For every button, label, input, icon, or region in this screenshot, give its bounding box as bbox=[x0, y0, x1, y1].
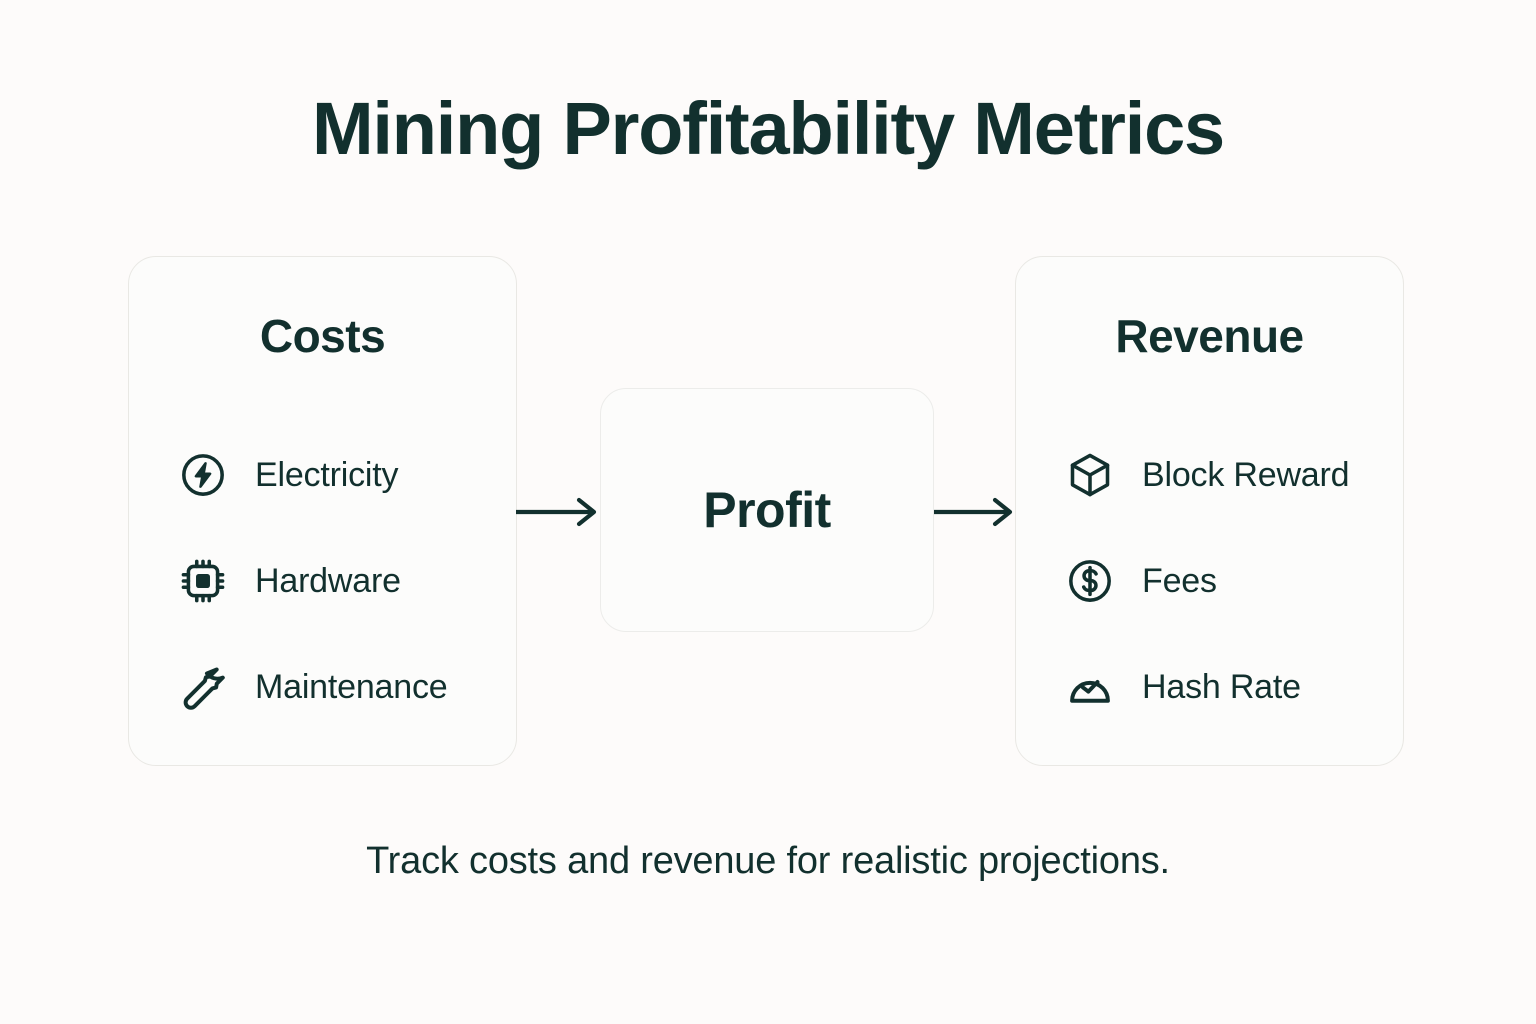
revenue-item-fees: Fees bbox=[1016, 528, 1403, 634]
cube-icon bbox=[1064, 449, 1116, 501]
revenue-item-label: Block Reward bbox=[1142, 456, 1349, 495]
revenue-item-label: Fees bbox=[1142, 562, 1217, 601]
lightning-bolt-circle-icon bbox=[177, 449, 229, 501]
costs-item-label: Hardware bbox=[255, 562, 401, 601]
costs-item-maintenance: Maintenance bbox=[129, 634, 516, 740]
cpu-chip-icon bbox=[177, 555, 229, 607]
profit-label: Profit bbox=[703, 481, 831, 539]
wrench-icon bbox=[177, 661, 229, 713]
costs-item-hardware: Hardware bbox=[129, 528, 516, 634]
revenue-card: Revenue Block Reward bbox=[1015, 256, 1404, 766]
costs-item-list: Electricity Hardware bbox=[129, 422, 516, 740]
costs-item-label: Maintenance bbox=[255, 668, 448, 707]
dollar-circle-icon bbox=[1064, 555, 1116, 607]
costs-card-title: Costs bbox=[129, 309, 516, 363]
caption-text: Track costs and revenue for realistic pr… bbox=[0, 840, 1536, 883]
profit-node: Profit bbox=[600, 388, 934, 632]
diagram-canvas: Mining Profitability Metrics Costs Elect… bbox=[0, 0, 1536, 1024]
revenue-item-block-reward: Block Reward bbox=[1016, 422, 1403, 528]
gauge-icon bbox=[1064, 661, 1116, 713]
revenue-item-list: Block Reward Fees bbox=[1016, 422, 1403, 740]
costs-item-label: Electricity bbox=[255, 456, 398, 495]
arrow-costs-to-profit bbox=[516, 492, 602, 532]
costs-card: Costs Electricity bbox=[128, 256, 517, 766]
revenue-item-label: Hash Rate bbox=[1142, 668, 1301, 707]
page-title: Mining Profitability Metrics bbox=[0, 88, 1536, 169]
arrow-profit-to-revenue bbox=[934, 492, 1018, 532]
revenue-card-title: Revenue bbox=[1016, 309, 1403, 363]
costs-item-electricity: Electricity bbox=[129, 422, 516, 528]
revenue-item-hash-rate: Hash Rate bbox=[1016, 634, 1403, 740]
